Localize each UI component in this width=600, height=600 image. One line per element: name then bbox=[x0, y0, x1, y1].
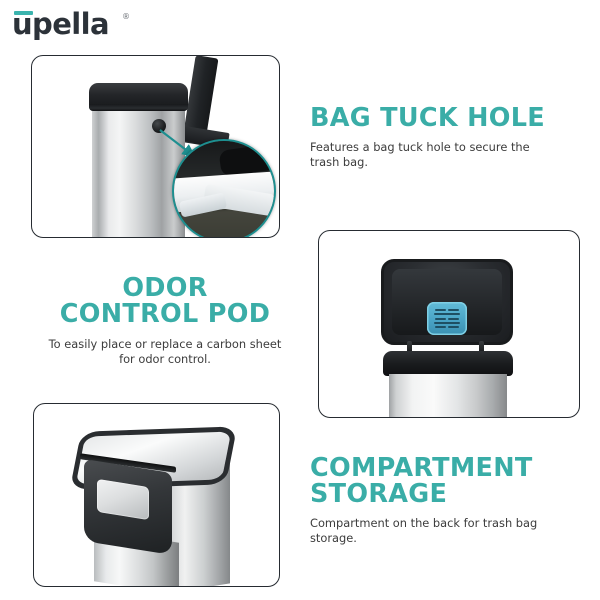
open-lid-front-face bbox=[381, 259, 513, 345]
pod-vent-slot bbox=[435, 309, 446, 311]
bag-tuck-closeup-inset bbox=[172, 139, 276, 238]
bag-tuck-hole-heading: BAG TUCK HOLE bbox=[310, 105, 560, 131]
odor-control-pod-vent bbox=[427, 302, 467, 335]
registered-trademark-icon: ® bbox=[122, 12, 130, 21]
pod-vent-slot bbox=[434, 313, 460, 315]
pod-vent-row bbox=[431, 309, 463, 311]
trash-can-steel-body bbox=[92, 101, 185, 238]
infographic-page: upella ® bbox=[0, 0, 600, 600]
pod-vent-slot bbox=[448, 309, 459, 311]
pod-vent-slot bbox=[448, 326, 459, 328]
bag-tuck-hole-description: Features a bag tuck hole to secure the t… bbox=[310, 140, 560, 170]
pod-vent-slot bbox=[435, 326, 446, 328]
trash-can-black-collar bbox=[383, 351, 513, 376]
pod-vent-row bbox=[431, 326, 463, 328]
odor-control-pod-heading-line1: ODOR bbox=[40, 275, 290, 301]
odor-control-pod-description: To easily place or replace a carbon shee… bbox=[40, 337, 290, 367]
pod-vent-row bbox=[431, 318, 463, 320]
brand-logo: upella ® bbox=[12, 4, 192, 44]
trash-can-steel-body bbox=[389, 374, 507, 418]
compartment-storage-image-panel bbox=[33, 403, 280, 587]
compartment-storage-product-illustration bbox=[34, 404, 279, 586]
bag-tuck-hole-text-block: BAG TUCK HOLE Features a bag tuck hole t… bbox=[310, 105, 560, 170]
pod-vent-row bbox=[431, 322, 463, 324]
odor-control-pod-product-illustration bbox=[319, 231, 579, 417]
odor-control-pod-text-block: ODOR CONTROL POD To easily place or repl… bbox=[40, 275, 290, 367]
compartment-storage-heading-line1: COMPARTMENT bbox=[310, 455, 570, 481]
trash-can-lid-rim bbox=[89, 104, 188, 111]
brand-wordmark: upella bbox=[12, 4, 109, 44]
odor-control-pod-image-panel bbox=[318, 230, 580, 418]
compartment-storage-description: Compartment on the back for trash bag st… bbox=[310, 516, 570, 546]
pod-vent-slot bbox=[434, 322, 460, 324]
compartment-storage-heading-line2: STORAGE bbox=[310, 481, 570, 507]
bag-tuck-hole-product-illustration bbox=[32, 56, 279, 237]
odor-control-pod-heading-line2: CONTROL POD bbox=[40, 301, 290, 327]
pod-vent-row bbox=[431, 313, 463, 315]
pod-vent-slot bbox=[448, 318, 459, 320]
bag-tuck-hole-image-panel bbox=[31, 55, 280, 238]
pod-vent-slot bbox=[435, 318, 446, 320]
compartment-storage-text-block: COMPARTMENT STORAGE Compartment on the b… bbox=[310, 455, 570, 546]
